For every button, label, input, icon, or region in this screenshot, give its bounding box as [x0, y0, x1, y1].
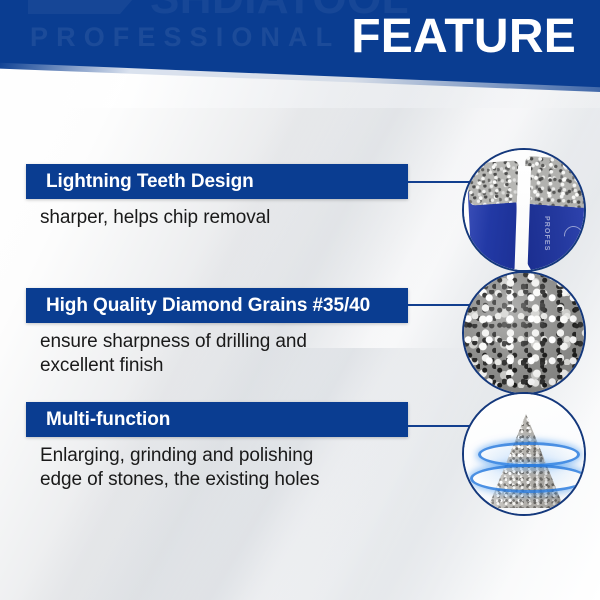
feature-block-2: High Quality Diamond Grains #35/40 ensur…	[26, 288, 408, 378]
feature-description-1: sharper, helps chip removal	[26, 206, 408, 230]
page-title: FEATURE	[351, 8, 576, 66]
core-bit-image: PROFES	[464, 150, 584, 270]
feature-photo-3	[462, 392, 586, 516]
feature-description-3: Enlarging, grinding and polishing edge o…	[26, 444, 408, 492]
feature-description-2: ensure sharpness of drilling and excelle…	[26, 330, 408, 378]
cone-bit-image	[464, 394, 584, 514]
feature-title-bar-1: Lightning Teeth Design	[26, 164, 408, 199]
feature-title-3: Multi-function	[26, 409, 170, 431]
feature-description-3-line-1: Enlarging, grinding and polishing	[40, 444, 408, 468]
feature-title-1: Lightning Teeth Design	[26, 171, 254, 193]
diamond-teeth-right	[522, 156, 586, 208]
product-logo-text: PROFES	[543, 216, 550, 252]
feature-description-3-line-2: edge of stones, the existing holes	[40, 468, 408, 492]
rotation-ring-lower	[470, 464, 586, 493]
connector-line-2	[408, 304, 470, 306]
connector-line-3	[408, 425, 470, 427]
feature-photo-2	[462, 271, 586, 395]
diamond-grain-image	[464, 273, 584, 393]
feature-photo-1: PROFES	[462, 148, 586, 272]
feature-block-1: Lightning Teeth Design sharper, helps ch…	[26, 164, 408, 230]
connector-line-1	[408, 181, 470, 183]
feature-description-2-line-2: excellent finish	[40, 354, 408, 378]
feature-description-1-line-1: sharper, helps chip removal	[40, 206, 408, 230]
feature-title-bar-3: Multi-function	[26, 402, 408, 437]
feature-title-2: High Quality Diamond Grains #35/40	[26, 295, 370, 317]
feature-title-bar-2: High Quality Diamond Grains #35/40	[26, 288, 408, 323]
grain-shading	[464, 273, 584, 393]
feature-description-2-line-1: ensure sharpness of drilling and	[40, 330, 408, 354]
diamond-teeth-left	[467, 160, 522, 206]
header-banner: SHDIATOOL PROFESSIONAL FEATURE	[0, 0, 600, 108]
brand-watermark-tagline: PROFESSIONAL	[30, 22, 340, 53]
feature-block-3: Multi-function Enlarging, grinding and p…	[26, 402, 408, 492]
feature-infographic: SHDIATOOL PROFESSIONAL FEATURE Lightning…	[0, 0, 600, 600]
